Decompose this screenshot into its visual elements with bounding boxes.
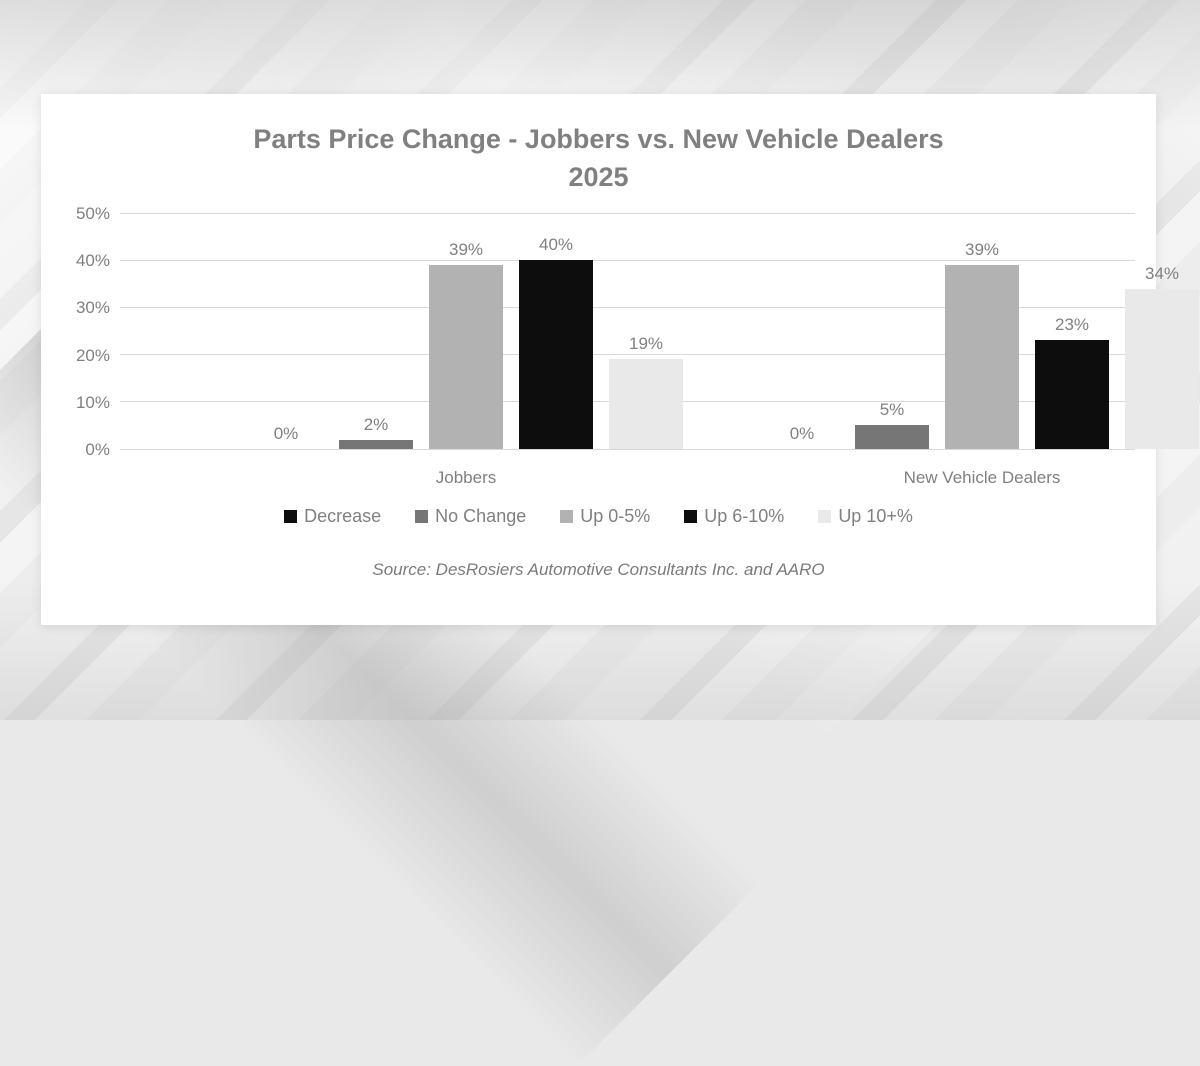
bar-value-label: 39% — [429, 241, 503, 258]
chart-title-main: Parts Price Change - Jobbers vs. New Veh… — [253, 124, 943, 154]
bar — [429, 265, 503, 449]
chart-title-year: 2025 — [41, 158, 1156, 196]
y-axis-tick-label: 0% — [40, 441, 110, 458]
bar — [519, 260, 593, 449]
chart-title: Parts Price Change - Jobbers vs. New Veh… — [41, 120, 1156, 196]
category-label: New Vehicle Dealers — [765, 469, 1199, 486]
legend-item[interactable]: Up 6-10% — [684, 507, 784, 525]
bar-value-label: 19% — [609, 335, 683, 352]
source-note: Source: DesRosiers Automotive Consultant… — [41, 560, 1156, 580]
bar-value-label: 0% — [249, 425, 323, 442]
legend-item[interactable]: No Change — [415, 507, 526, 525]
chart-card: Parts Price Change - Jobbers vs. New Veh… — [41, 94, 1156, 625]
legend-swatch-icon — [560, 510, 573, 523]
legend-label: Up 10+% — [838, 507, 913, 525]
bar-value-label: 0% — [765, 425, 839, 442]
bar-value-label: 39% — [945, 241, 1019, 258]
gridline — [120, 213, 1135, 214]
y-axis-tick-label: 10% — [40, 394, 110, 411]
bar-value-label: 34% — [1125, 265, 1199, 282]
bar-value-label: 23% — [1035, 316, 1109, 333]
legend-label: Decrease — [304, 507, 381, 525]
legend-item[interactable]: Up 0-5% — [560, 507, 650, 525]
legend-label: No Change — [435, 507, 526, 525]
legend-item[interactable]: Up 10+% — [818, 507, 913, 525]
bar — [855, 425, 929, 449]
bar-value-label: 2% — [339, 416, 413, 433]
category-label: Jobbers — [249, 469, 683, 486]
gridline — [120, 260, 1135, 261]
bar — [339, 440, 413, 449]
bar — [609, 359, 683, 449]
bar-value-label: 40% — [519, 236, 593, 253]
y-axis-tick-label: 50% — [40, 205, 110, 222]
bar — [1125, 289, 1199, 449]
bar — [1035, 340, 1109, 449]
legend-swatch-icon — [684, 510, 697, 523]
legend-label: Up 6-10% — [704, 507, 784, 525]
legend-swatch-icon — [284, 510, 297, 523]
plot-area: 0%10%20%30%40%50% 0%2%39%40%19%0%5%39%23… — [120, 213, 1135, 449]
chart-legend: DecreaseNo ChangeUp 0-5%Up 6-10%Up 10+% — [41, 507, 1156, 525]
legend-label: Up 0-5% — [580, 507, 650, 525]
legend-swatch-icon — [415, 510, 428, 523]
bar-value-label: 5% — [855, 401, 929, 418]
y-axis-tick-label: 30% — [40, 299, 110, 316]
y-axis-tick-label: 40% — [40, 252, 110, 269]
y-axis-tick-label: 20% — [40, 347, 110, 364]
legend-item[interactable]: Decrease — [284, 507, 381, 525]
bar — [945, 265, 1019, 449]
legend-swatch-icon — [818, 510, 831, 523]
